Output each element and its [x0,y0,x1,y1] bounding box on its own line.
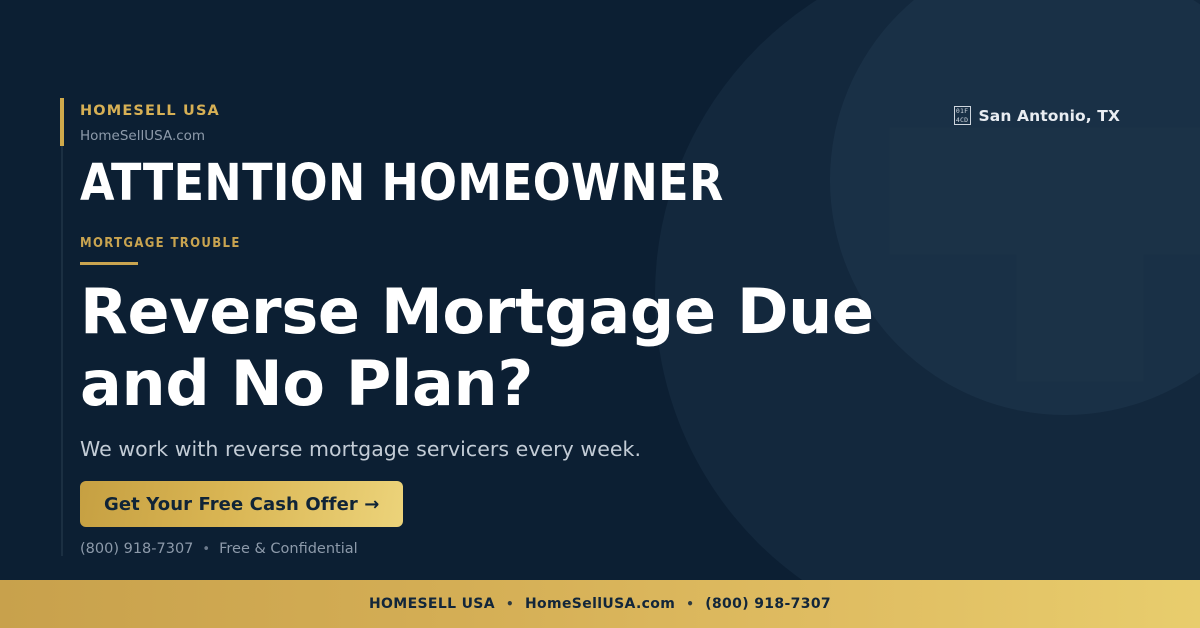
headline-line-1: Reverse Mortgage Due [80,276,980,348]
ad-creative-canvas: HOMESELL USA HomeSellUSA.com 01F 4CD San… [0,0,1200,628]
brand-website: HomeSellUSA.com [80,129,220,144]
location-pin-icon-hex-top: 01F [956,107,968,116]
get-free-cash-offer-button[interactable]: Get Your Free Cash Offer → [80,481,403,527]
footer-phone[interactable]: (800) 918-7307 [705,596,831,612]
brand-name: HOMESELL USA [80,104,220,120]
subheadline: We work with reverse mortgage servicers … [80,436,641,464]
location-badge: 01F 4CD San Antonio, TX [954,106,1120,125]
left-rail-accent-bar [60,98,64,146]
footer-bar: HOMESELL USA • HomeSellUSA.com • (800) 9… [0,580,1200,628]
attention-line: ATTENTION HOMEOWNER [80,158,724,209]
headline-line-2: and No Plan? [80,348,980,420]
content-column: HOMESELL USA HomeSellUSA.com 01F 4CD San… [80,0,1120,628]
eyebrow-label: MORTGAGE TROUBLE [80,237,241,251]
footer-brand: HOMESELL USA [369,596,495,612]
footer-website[interactable]: HomeSellUSA.com [525,596,675,612]
left-rail-line [61,98,63,556]
eyebrow-underline [80,262,138,265]
location-pin-icon: 01F 4CD [954,106,971,125]
trust-phone-number[interactable]: (800) 918-7307 [80,541,193,558]
trust-separator-dot: • [202,542,210,558]
trust-line: (800) 918-7307 • Free & Confidential [80,541,358,558]
location-label: San Antonio, TX [979,107,1120,125]
footer-separator-1: • [506,597,514,611]
brand-identity: HOMESELL USA HomeSellUSA.com [80,104,220,144]
trust-note: Free & Confidential [219,541,358,558]
page-title: Reverse Mortgage Due and No Plan? [80,276,980,420]
brand-header-row: HOMESELL USA HomeSellUSA.com 01F 4CD San… [80,104,1120,144]
footer-separator-2: • [686,597,694,611]
location-pin-icon-hex-bottom: 4CD [956,116,968,125]
